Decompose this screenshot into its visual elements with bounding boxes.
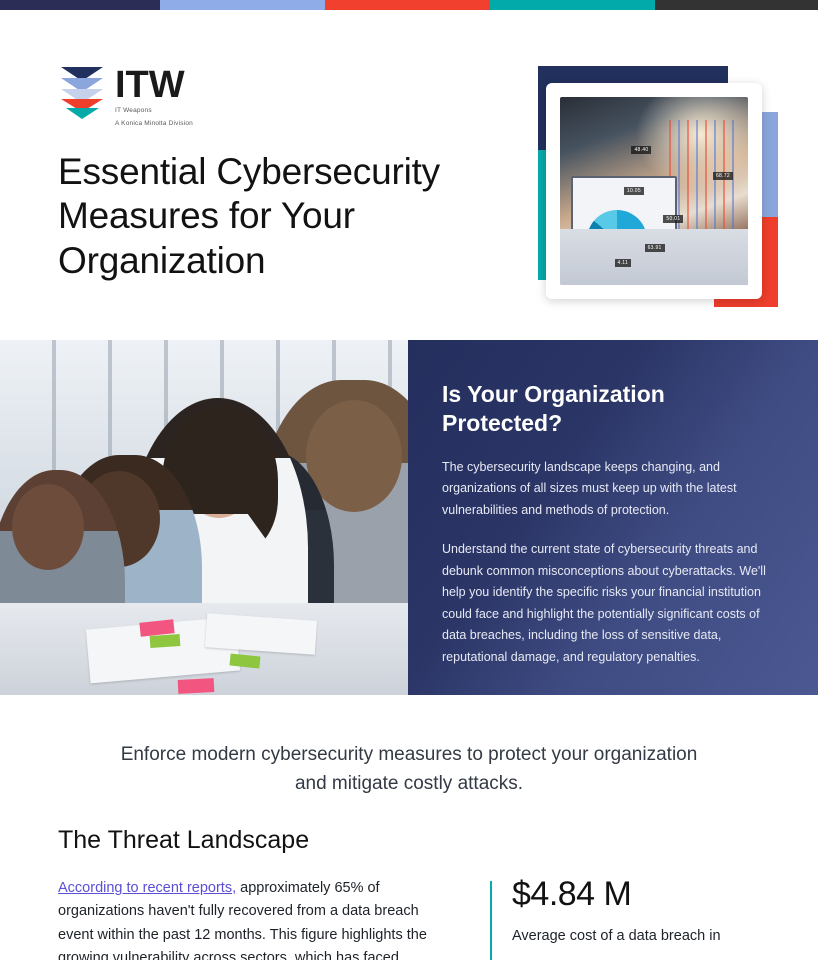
itw-chevron-logo-icon bbox=[59, 65, 105, 120]
stat-callout: $4.84 M Average cost of a data breach in bbox=[490, 877, 760, 960]
photo-documents bbox=[560, 229, 748, 285]
photo-sticky-note bbox=[150, 634, 181, 648]
brand-logo: ITW IT Weapons A Konica Minolta Division bbox=[59, 65, 193, 128]
stat-label: Average cost of a data breach in bbox=[512, 925, 760, 948]
page-title: Essential Cybersecurity Measures for You… bbox=[58, 150, 498, 283]
photo-tag-value: 4.11 bbox=[615, 259, 632, 267]
topbar-segment-teal bbox=[490, 0, 655, 10]
photo-tag-value: 10.05 bbox=[624, 187, 644, 195]
recent-reports-link[interactable]: According to recent reports, bbox=[58, 880, 236, 896]
hero-team-photo bbox=[0, 340, 420, 695]
brand-wordmark: ITW bbox=[115, 67, 193, 103]
topbar-segment-light-blue bbox=[160, 0, 325, 10]
topbar-segment-dark-gray bbox=[655, 0, 818, 10]
photo-tag-value: 50.01 bbox=[663, 215, 683, 223]
hero-panel-title: Is Your Organization Protected? bbox=[442, 380, 787, 439]
photo-tag-value: 48.40 bbox=[631, 146, 651, 154]
stat-value: $4.84 M bbox=[512, 877, 760, 913]
brand-tagline-line1: IT Weapons bbox=[115, 106, 193, 115]
photo-tag-value: 63.91 bbox=[645, 244, 665, 252]
header-image-collage: 68.72 48.40 10.05 63.91 4.11 50.01 bbox=[528, 66, 783, 306]
topbar-segment-red bbox=[325, 0, 490, 10]
threat-landscape-section: The Threat Landscape According to recent… bbox=[0, 826, 818, 960]
photo-tag-value: 68.72 bbox=[713, 172, 733, 180]
collage-photo-frame: 68.72 48.40 10.05 63.91 4.11 50.01 bbox=[546, 83, 762, 299]
threat-landscape-body: According to recent reports, approximate… bbox=[58, 877, 444, 960]
hero-band: Is Your Organization Protected? The cybe… bbox=[0, 340, 818, 695]
top-color-bar bbox=[0, 0, 818, 10]
document-header: ITW IT Weapons A Konica Minolta Division… bbox=[0, 10, 818, 340]
photo-sticky-note bbox=[178, 678, 215, 694]
threat-landscape-heading: The Threat Landscape bbox=[58, 826, 760, 855]
topbar-segment-navy bbox=[0, 0, 160, 10]
hero-text-panel: Is Your Organization Protected? The cybe… bbox=[408, 340, 818, 695]
brand-tagline-line2: A Konica Minolta Division bbox=[115, 119, 193, 128]
section-tagline: Enforce modern cybersecurity measures to… bbox=[0, 741, 818, 798]
hero-panel-paragraph-2: Understand the current state of cybersec… bbox=[442, 539, 787, 668]
collage-photo: 68.72 48.40 10.05 63.91 4.11 50.01 bbox=[560, 97, 748, 285]
hero-panel-paragraph-1: The cybersecurity landscape keeps changi… bbox=[442, 457, 787, 522]
document-page: ITW IT Weapons A Konica Minolta Division… bbox=[0, 0, 818, 960]
